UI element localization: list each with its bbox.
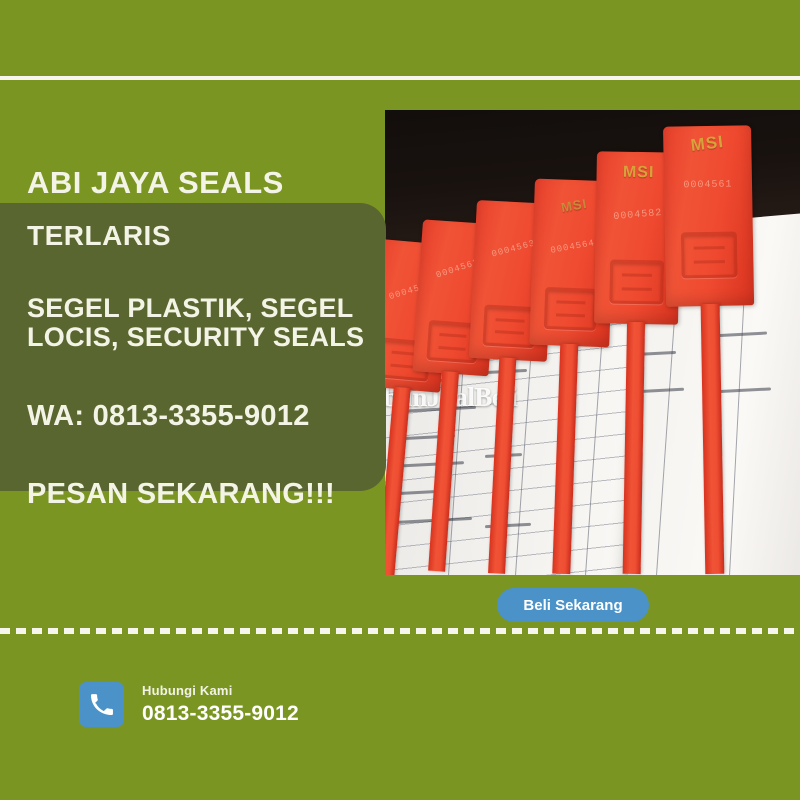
contact-text: Hubungi Kami 0813-3355-9012 [142,683,299,726]
subheadline: TERLARIS [27,220,171,252]
whatsapp-number: WA: 0813-3355-9012 [27,400,310,433]
product-photo-scene: 0004561 0004562 0004563 MSI 0004564 [385,110,800,575]
contact-label: Hubungi Kami [142,683,299,698]
page-title: ABI JAYA SEALS [27,165,284,201]
contact-phone-number[interactable]: 0813-3355-9012 [142,702,299,726]
product-photo: 0004561 0004562 0004563 MSI 0004564 [385,110,800,575]
product-list-text: SEGEL PLASTIK, SEGEL LOCIS, SECURITY SEA… [27,294,372,352]
top-divider-rule [0,76,800,80]
contact-block[interactable]: Hubungi Kami 0813-3355-9012 [79,682,299,727]
dashed-divider [0,628,800,634]
plastic-seal: MSI 0004561 [663,125,759,574]
phone-icon[interactable] [79,682,124,727]
cta-headline: PESAN SEKARANG!!! [27,478,335,511]
promo-banner: 0004561 0004562 0004563 MSI 0004564 [0,0,800,800]
buy-now-button[interactable]: Beli Sekarang [497,588,649,622]
